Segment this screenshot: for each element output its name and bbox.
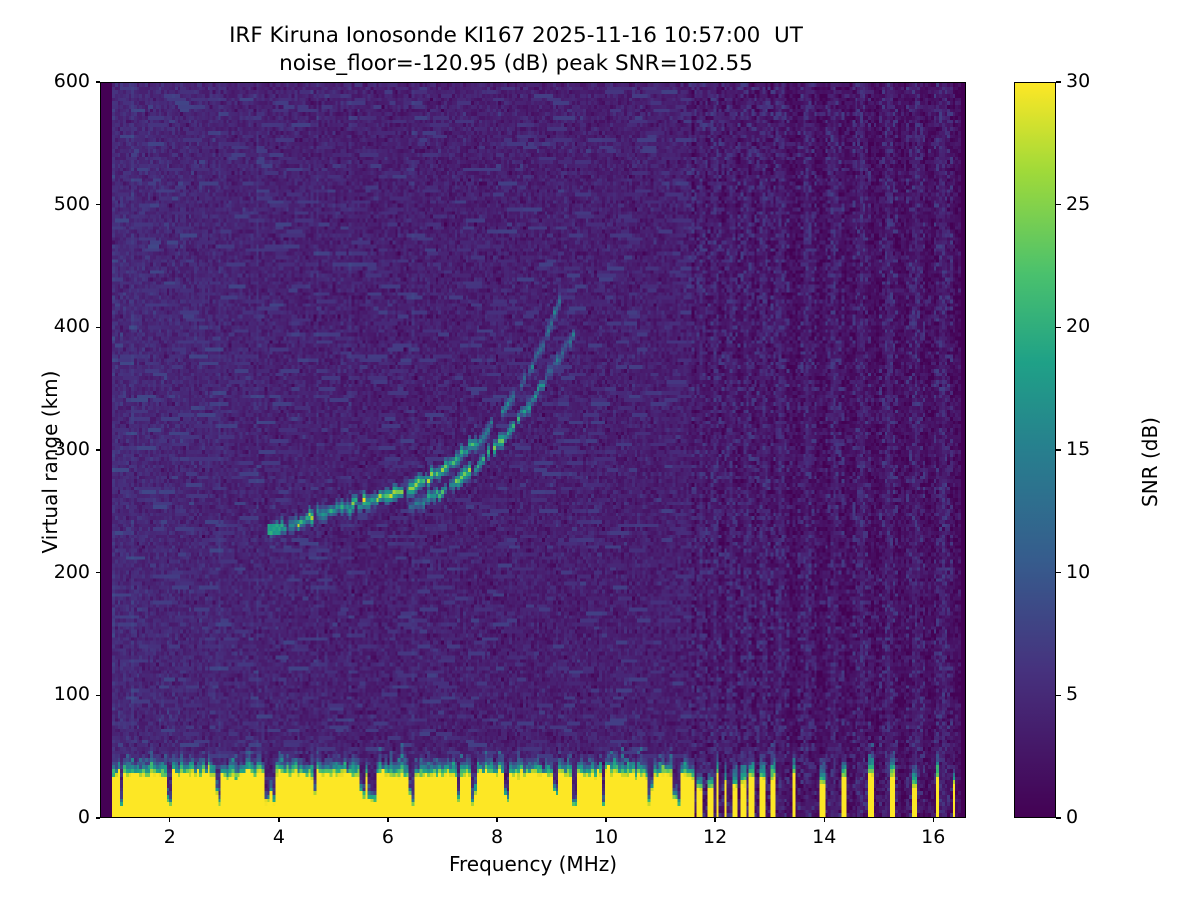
x-tick-label: 6 xyxy=(348,826,428,848)
y-axis-label: Virtual range (km) xyxy=(38,312,62,612)
x-tick-label: 2 xyxy=(130,826,210,848)
colorbar-tick-label: 20 xyxy=(1066,315,1090,337)
ionogram-heatmap xyxy=(101,83,965,817)
x-tick-label: 10 xyxy=(566,826,646,848)
figure-title: IRF Kiruna Ionosonde KI167 2025-11-16 10… xyxy=(0,22,1032,79)
x-tick xyxy=(278,818,279,822)
x-tick-label: 16 xyxy=(893,826,973,848)
colorbar-tick xyxy=(1056,204,1061,205)
ionogram-figure: IRF Kiruna Ionosonde KI167 2025-11-16 10… xyxy=(0,0,1200,900)
colorbar-tick-label: 25 xyxy=(1066,193,1090,215)
x-tick xyxy=(387,818,388,822)
x-tick xyxy=(933,818,934,822)
colorbar-tick xyxy=(1056,695,1061,696)
y-tick xyxy=(96,327,100,328)
x-tick-label: 4 xyxy=(239,826,319,848)
y-tick-label: 100 xyxy=(0,683,90,705)
y-tick xyxy=(96,572,100,573)
colorbar-tick-label: 5 xyxy=(1066,683,1078,705)
y-tick xyxy=(96,817,100,818)
y-tick xyxy=(96,81,100,82)
plot-area xyxy=(100,82,966,818)
x-tick xyxy=(169,818,170,822)
colorbar-tick xyxy=(1056,327,1061,328)
colorbar-tick-label: 10 xyxy=(1066,561,1090,583)
colorbar-label: SNR (dB) xyxy=(1138,322,1162,602)
title-line-2: noise_floor=-120.95 (dB) peak SNR=102.55 xyxy=(0,50,1032,78)
x-axis-label: Frequency (MHz) xyxy=(100,852,966,876)
x-tick-label: 12 xyxy=(675,826,755,848)
colorbar-tick-label: 30 xyxy=(1066,70,1090,92)
colorbar-tick-label: 15 xyxy=(1066,438,1090,460)
x-tick xyxy=(496,818,497,822)
y-tick xyxy=(96,695,100,696)
y-tick-label: 600 xyxy=(0,70,90,92)
x-tick-label: 14 xyxy=(784,826,864,848)
colorbar-tick xyxy=(1056,817,1061,818)
y-tick xyxy=(96,449,100,450)
heatmap-canvas-wrap xyxy=(101,83,965,817)
x-tick xyxy=(824,818,825,822)
colorbar-tick xyxy=(1056,572,1061,573)
x-tick-label: 8 xyxy=(457,826,537,848)
x-tick xyxy=(714,818,715,822)
y-tick xyxy=(96,204,100,205)
colorbar-tick-label: 0 xyxy=(1066,806,1078,828)
colorbar-tick xyxy=(1056,81,1061,82)
y-tick-label: 500 xyxy=(0,193,90,215)
y-tick-label: 0 xyxy=(0,806,90,828)
title-line-1: IRF Kiruna Ionosonde KI167 2025-11-16 10… xyxy=(0,22,1032,50)
colorbar xyxy=(1014,82,1056,818)
x-tick xyxy=(605,818,606,822)
colorbar-tick xyxy=(1056,449,1061,450)
